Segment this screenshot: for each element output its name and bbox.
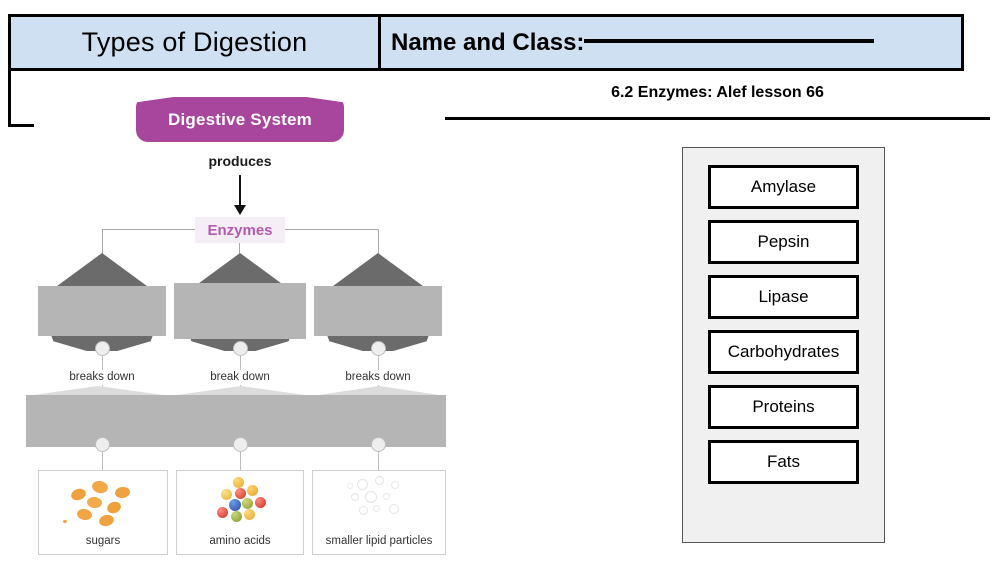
worksheet-page: Types of Digestion Name and Class: 6.2 E…	[0, 0, 1000, 562]
enzyme-blank-3[interactable]	[314, 286, 442, 336]
name-and-class-label: Name and Class:	[391, 29, 584, 57]
digestion-flow-diagram: Digestive System produces Enzymes Pepsin…	[0, 95, 470, 562]
product-label: smaller lipid particles	[326, 535, 433, 554]
enzyme-blank-2[interactable]	[174, 283, 306, 339]
connector-knob-icon	[95, 341, 110, 356]
product-label: sugars	[86, 535, 121, 554]
enzymes-node: Enzymes	[195, 217, 285, 243]
breaks-down-label-1: breaks down	[38, 371, 166, 383]
branch-connector-right	[378, 229, 379, 254]
branch-connector-left	[102, 229, 103, 254]
header-title-cell: Types of Digestion	[11, 17, 381, 68]
word-bank-item-lipase[interactable]: Lipase	[708, 275, 859, 319]
enzyme-blank-1[interactable]	[38, 286, 166, 336]
breaks-down-label-2: break down	[176, 371, 304, 383]
word-bank: Amylase Pepsin Lipase Carbohydrates Prot…	[682, 147, 885, 543]
connector-knob-icon	[371, 341, 386, 356]
connector-knob-icon	[233, 341, 248, 356]
subtitle-divider	[445, 117, 990, 120]
produces-label: produces	[136, 153, 344, 169]
word-bank-item-amylase[interactable]: Amylase	[708, 165, 859, 209]
amino-acids-art-icon	[177, 471, 303, 535]
product-card-lipid-particles: smaller lipid particles	[312, 470, 446, 555]
connector-knob-icon	[371, 437, 386, 452]
product-card-amino-acids: amino acids	[176, 470, 304, 555]
produces-arrow-shaft	[239, 175, 241, 209]
sugars-art-icon	[39, 471, 167, 535]
word-bank-item-pepsin[interactable]: Pepsin	[708, 220, 859, 264]
product-label: amino acids	[209, 535, 270, 554]
word-bank-item-proteins[interactable]: Proteins	[708, 385, 859, 429]
header-table: Types of Digestion Name and Class:	[8, 14, 964, 71]
digestive-system-node: Digestive System	[136, 97, 344, 142]
word-bank-item-fats[interactable]: Fats	[708, 440, 859, 484]
name-and-class-blank[interactable]	[584, 39, 874, 43]
connector-knob-icon	[233, 437, 248, 452]
lipid-particles-art-icon	[313, 471, 445, 535]
breaks-down-label-3: breaks down	[314, 371, 442, 383]
page-title: Types of Digestion	[82, 27, 308, 58]
connector-knob-icon	[95, 437, 110, 452]
produces-arrow-head-icon	[234, 205, 246, 215]
lesson-subtitle: 6.2 Enzymes: Alef lesson 66	[445, 84, 990, 102]
header-name-cell: Name and Class:	[381, 17, 961, 68]
product-card-sugars: sugars	[38, 470, 168, 555]
word-bank-item-carbohydrates[interactable]: Carbohydrates	[708, 330, 859, 374]
